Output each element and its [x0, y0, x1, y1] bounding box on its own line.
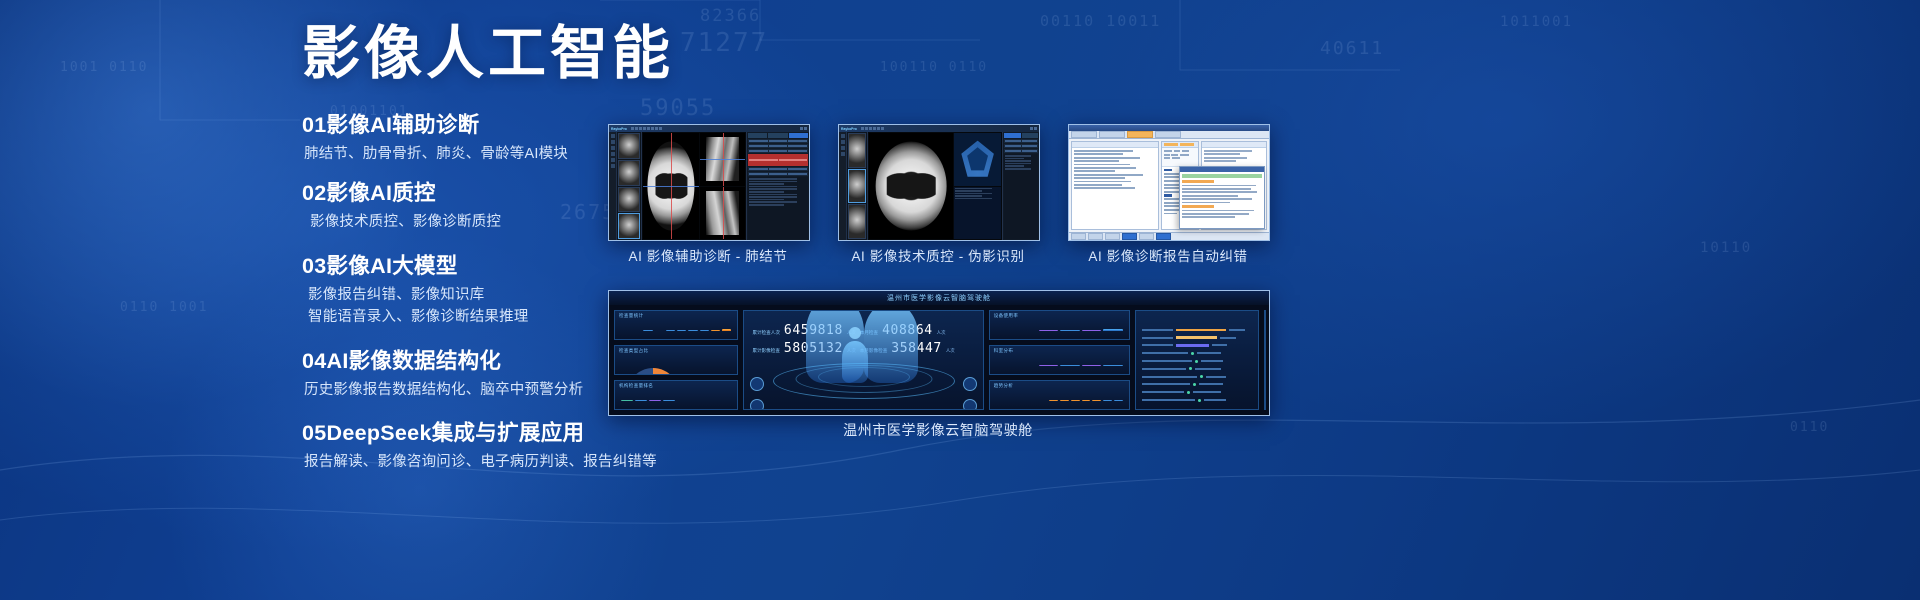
tab-item-active[interactable]: [1127, 131, 1153, 138]
action-button[interactable]: [748, 133, 767, 138]
crosshair-vertical: [723, 187, 724, 240]
card-title: 检查量统计: [619, 313, 644, 319]
report-software-window: [1069, 125, 1269, 240]
base-ring: [818, 367, 910, 387]
minimize-icon[interactable]: [1030, 127, 1033, 130]
kpi-label: 累计检查人次: [752, 330, 780, 336]
toolbar-icon[interactable]: [881, 127, 884, 130]
list-item[interactable]: [1142, 335, 1252, 341]
popup-content[interactable]: [1180, 172, 1264, 227]
feature-title: 影像AI质控: [327, 181, 436, 205]
banner-stage: 82366 71277 59055 26753 00110 10011 4061…: [0, 0, 1920, 600]
bar-chart: [996, 364, 1123, 366]
chart-card-exam-type[interactable]: 检查类型占比: [614, 345, 738, 375]
app-logo: RaykoPro: [611, 127, 627, 131]
footer-button[interactable]: [1105, 233, 1120, 240]
qc-actions[interactable]: [1004, 133, 1038, 138]
ct-axial-view[interactable]: [643, 133, 699, 239]
toolbar-icon[interactable]: [643, 127, 646, 130]
page-title: 影像人工智能: [302, 24, 772, 85]
human-figure-visual: [744, 359, 982, 405]
ct-series-thumbnails[interactable]: [847, 132, 868, 240]
tab-item[interactable]: [1099, 131, 1125, 138]
toolbar-icon[interactable]: [861, 127, 864, 130]
rail-icon[interactable]: [841, 146, 845, 150]
qc-row[interactable]: [1004, 144, 1038, 148]
area-chart: [996, 399, 1123, 401]
card-title: 趋势分析: [994, 383, 1014, 389]
toolbar-icon[interactable]: [647, 127, 650, 130]
finding-row[interactable]: [748, 149, 808, 153]
ai-correction-popup[interactable]: [1179, 166, 1265, 228]
qc-row[interactable]: [1004, 149, 1038, 153]
feature-title: 影像AI大模型: [327, 254, 458, 278]
rail-icon[interactable]: [841, 140, 845, 144]
toolbar-icon[interactable]: [865, 127, 868, 130]
card-title: 检查类型占比: [619, 348, 648, 354]
bar-chart: [621, 399, 731, 401]
card-title: 设备使用率: [994, 313, 1019, 319]
feature-number: 01: [302, 113, 327, 137]
qc-score-list: [954, 187, 1001, 201]
ct-axial-slice: [876, 141, 947, 230]
dashboard-column-list: [1135, 310, 1259, 410]
app-logo: RaykoPro: [841, 127, 857, 131]
ct-viewer-window: RaykoPro: [839, 125, 1039, 240]
list-item[interactable]: [1142, 382, 1252, 388]
report-tabs[interactable]: [1069, 131, 1269, 139]
tab-item[interactable]: [1071, 131, 1097, 138]
qc-detail-text: [1004, 154, 1038, 239]
toolbar-icon[interactable]: [659, 127, 662, 130]
worklist-tree[interactable]: [1072, 148, 1158, 229]
list-item[interactable]: [1142, 366, 1252, 372]
toolbar-icon[interactable]: [635, 127, 638, 130]
ct-series-thumbnails[interactable]: [617, 132, 642, 240]
qc-row[interactable]: [1004, 139, 1038, 143]
ct-analysis-views: [954, 133, 1001, 239]
screenshot-report-correction[interactable]: [1068, 124, 1270, 241]
orbit-icon[interactable]: [750, 399, 764, 410]
card-title: [748, 313, 750, 318]
ct-sagittal-view[interactable]: [700, 133, 745, 186]
feature-title: DeepSeek集成与扩展应用: [327, 421, 585, 445]
rail-icon[interactable]: [611, 146, 615, 150]
dashboard-title: 温州市医学影像云智脑驾驶舱: [887, 293, 991, 303]
ct-viewport-grid[interactable]: [868, 132, 1002, 240]
series-thumbnail-selected[interactable]: [848, 169, 866, 204]
screenshot-ct-nodule[interactable]: RaykoPro: [608, 124, 810, 241]
card-title: 科室分布: [994, 348, 1014, 354]
bar-chart: [621, 329, 731, 331]
crosshair-horizontal: [643, 186, 699, 187]
findings-actions[interactable]: [748, 133, 808, 138]
feature-number: 05: [302, 421, 327, 445]
dashboard-header: 温州市医学影像云智脑驾驶舱: [609, 291, 1269, 305]
toolbar-icon[interactable]: [639, 127, 642, 130]
orbit-icon[interactable]: [750, 377, 764, 391]
series-thumbnail[interactable]: [618, 187, 640, 213]
finding-row[interactable]: [748, 139, 808, 143]
feature-subline: 报告解读、影像咨询问诊、电子病历判读、报告纠错等: [304, 451, 772, 473]
worklist-panel[interactable]: [1071, 141, 1159, 230]
series-thumbnail[interactable]: [848, 133, 866, 168]
screenshot-caption-1: AI 影像辅助诊断 - 肺结节: [608, 245, 808, 265]
chart-card-device-usage[interactable]: 设备使用率: [989, 310, 1130, 340]
footer-button[interactable]: [1088, 233, 1103, 240]
toolbar-icon[interactable]: [655, 127, 658, 130]
qc-radar-chart[interactable]: [954, 133, 1001, 186]
screenshot-caption-2: AI 影像技术质控 - 伪影识别: [838, 245, 1038, 265]
series-thumbnail[interactable]: [848, 204, 866, 239]
list-item[interactable]: [1142, 327, 1252, 333]
finding-row[interactable]: [748, 172, 808, 176]
finding-row[interactable]: [748, 144, 808, 148]
action-button[interactable]: [1022, 133, 1039, 138]
footer-button[interactable]: [1139, 233, 1154, 240]
rail-icon[interactable]: [611, 158, 615, 162]
pie-chart: [627, 368, 679, 375]
screenshot-caption-3: AI 影像诊断报告自动纠错: [1068, 245, 1268, 265]
rail-icon[interactable]: [841, 152, 845, 156]
feature-title: 影像AI辅助诊断: [327, 113, 480, 137]
qc-score-panel[interactable]: [954, 187, 1001, 240]
chart-card-institution-rank[interactable]: 机构检查量排名: [614, 380, 738, 410]
ct-findings-panel[interactable]: [746, 132, 809, 240]
list-item[interactable]: [1142, 358, 1252, 364]
feature-subtext: 报告解读、影像咨询问诊、电子病历判读、报告纠错等: [302, 451, 772, 473]
card-title: [1140, 313, 1142, 318]
ct-tool-rail[interactable]: [609, 132, 617, 240]
footer-button-primary[interactable]: [1156, 233, 1171, 240]
ct-body: [839, 132, 1039, 240]
action-button-primary[interactable]: [789, 133, 808, 138]
ranking-list-card[interactable]: [1135, 310, 1259, 410]
series-thumbnail[interactable]: [618, 160, 640, 186]
dashboard-column-charts: 设备使用率 科室分布 趋势分析: [989, 310, 1130, 410]
toolbar-icon[interactable]: [877, 127, 880, 130]
finding-row[interactable]: [748, 167, 808, 171]
ct-secondary-views: [700, 133, 745, 239]
finding-row-alert[interactable]: [748, 154, 808, 166]
kpi-human-card[interactable]: 累计检查人次 6459818 人次 本月检查 408864 人次 累计影像检查 …: [743, 310, 983, 410]
rail-icon[interactable]: [611, 134, 615, 138]
ct-tool-rail[interactable]: [839, 132, 847, 240]
ct-viewer-window: RaykoPro: [609, 125, 809, 240]
toolbar-icon[interactable]: [873, 127, 876, 130]
qc-results-panel[interactable]: [1002, 132, 1039, 240]
list-item[interactable]: [1142, 389, 1252, 395]
ct-axial-view[interactable]: [869, 133, 953, 239]
kpi-unit: 人次: [946, 348, 955, 354]
series-thumbnail[interactable]: [618, 133, 640, 159]
list-item[interactable]: [1142, 374, 1252, 380]
close-icon[interactable]: [804, 127, 807, 130]
kpi-label: 累计影像检查: [752, 348, 780, 354]
ranking-list[interactable]: [1142, 327, 1252, 403]
ct-toolbar[interactable]: RaykoPro: [839, 125, 1039, 132]
feature-number: 03: [302, 254, 327, 278]
action-button-primary[interactable]: [1004, 133, 1021, 138]
ct-coronal-view[interactable]: [700, 187, 745, 240]
map-kpi-block: AI辅助诊断 13261534 例 今日新增 3287 例: [1265, 320, 1266, 356]
dashboard-grid: 检查量统计 检查类型占比: [609, 305, 1269, 415]
toolbar-button[interactable]: [1180, 143, 1194, 147]
rail-icon[interactable]: [611, 152, 615, 156]
report-footer-actions[interactable]: [1069, 232, 1269, 240]
feature-title: AI影像数据结构化: [327, 349, 502, 373]
rail-icon[interactable]: [611, 164, 615, 168]
list-item[interactable]: [1142, 397, 1252, 403]
dashboard-caption: 温州市医学影像云智脑驾驶舱: [608, 420, 1268, 440]
close-icon[interactable]: [1034, 127, 1037, 130]
list-item[interactable]: [1142, 343, 1252, 349]
action-button[interactable]: [768, 133, 787, 138]
series-thumbnail-selected[interactable]: [618, 213, 640, 239]
tab-item[interactable]: [1155, 131, 1181, 138]
feature-number: 02: [302, 181, 327, 205]
toolbar-icon[interactable]: [631, 127, 634, 130]
chart-card-trend[interactable]: 趋势分析: [989, 380, 1130, 410]
bar-chart: [996, 329, 1123, 331]
crosshair-horizontal: [700, 159, 745, 160]
ct-body: [609, 132, 809, 240]
kpi-unit: 人次: [937, 330, 946, 336]
chart-card-department[interactable]: 科室分布: [989, 345, 1130, 375]
toolbar-icon[interactable]: [651, 127, 654, 130]
dashboard-window: 温州市医学影像云智脑驾驶舱 检查量统计 检查类型: [609, 291, 1269, 415]
rail-icon[interactable]: [841, 134, 845, 138]
toolbar-button[interactable]: [1164, 143, 1178, 147]
dashboard-column-center: 累计检查人次 6459818 人次 本月检查 408864 人次 累计影像检查 …: [743, 310, 983, 410]
screenshot-dashboard[interactable]: 温州市医学影像云智脑驾驶舱 检查量统计 检查类型: [608, 290, 1270, 416]
rail-icon[interactable]: [611, 140, 615, 144]
dashboard-column-left: 检查量统计 检查类型占比: [614, 310, 738, 410]
region-map-card[interactable]: AI辅助诊断 13261534 例 今日新增 3287 例: [1264, 310, 1266, 410]
list-item[interactable]: [1142, 350, 1252, 356]
chart-card-exam-volume[interactable]: 检查量统计: [614, 310, 738, 340]
toolbar-icon[interactable]: [869, 127, 872, 130]
screenshot-ct-artifact[interactable]: RaykoPro: [838, 124, 1040, 241]
ct-toolbar[interactable]: RaykoPro: [609, 125, 809, 132]
minimize-icon[interactable]: [800, 127, 803, 130]
patient-metadata: [1162, 148, 1198, 167]
report-text-area[interactable]: [748, 177, 808, 239]
card-title: 机构检查量排名: [619, 383, 653, 389]
orbit-icon[interactable]: [963, 399, 977, 410]
footer-button[interactable]: [1071, 233, 1086, 240]
ct-viewport-grid[interactable]: [642, 132, 746, 240]
feature-number: 04: [302, 349, 327, 373]
orbit-icon[interactable]: [963, 377, 977, 391]
footer-button-primary[interactable]: [1122, 233, 1137, 240]
radar-polygon: [960, 140, 995, 179]
